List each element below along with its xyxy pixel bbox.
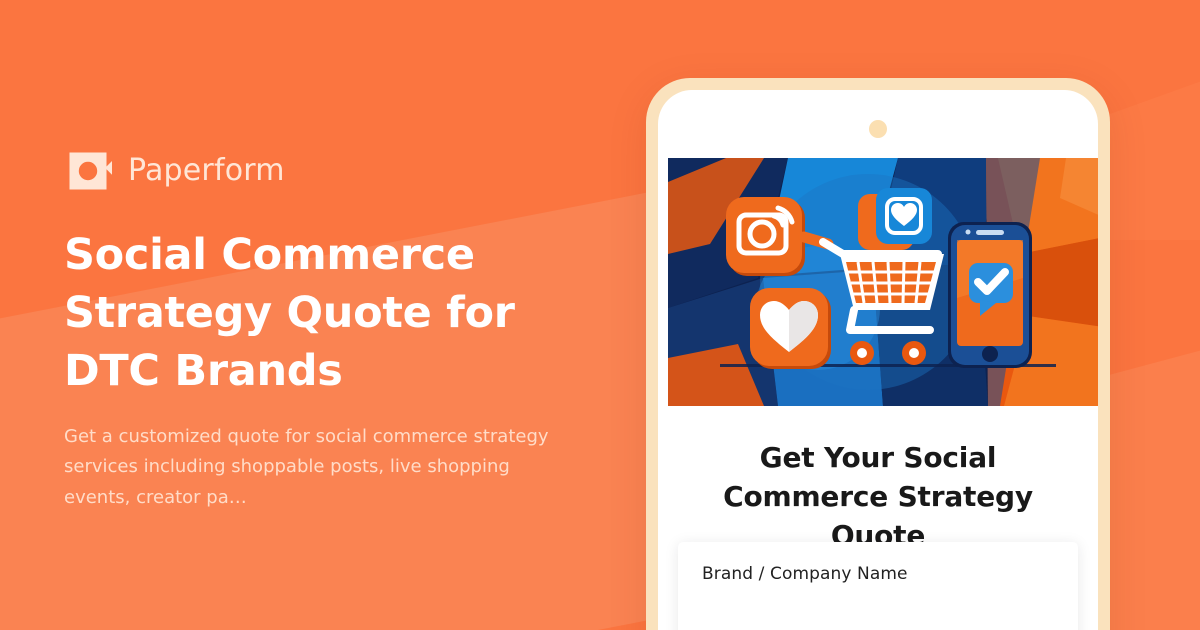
form-field-card: Brand / Company Name: [678, 542, 1078, 630]
hero-content-column: Paperform Social Commerce Strategy Quote…: [64, 140, 584, 513]
form-cover-image: [668, 158, 1098, 406]
camera-dot-icon: [869, 120, 887, 138]
phone-screen: Get Your Social Commerce Strategy Quote …: [658, 90, 1098, 630]
brand-wordmark: Paperform: [128, 156, 285, 186]
phone-mockup: Get Your Social Commerce Strategy Quote …: [646, 78, 1110, 630]
brand-lockup: Paperform: [64, 140, 584, 202]
og-image-canvas: Paperform Social Commerce Strategy Quote…: [0, 0, 1200, 630]
brand-company-name-label: Brand / Company Name: [702, 564, 1054, 584]
form-title: Get Your Social Commerce Strategy Quote: [678, 438, 1078, 556]
page-title: Social Commerce Strategy Quote for DTC B…: [64, 226, 534, 400]
paperform-logo-icon: [64, 147, 112, 195]
page-description: Get a customized quote for social commer…: [64, 422, 554, 513]
